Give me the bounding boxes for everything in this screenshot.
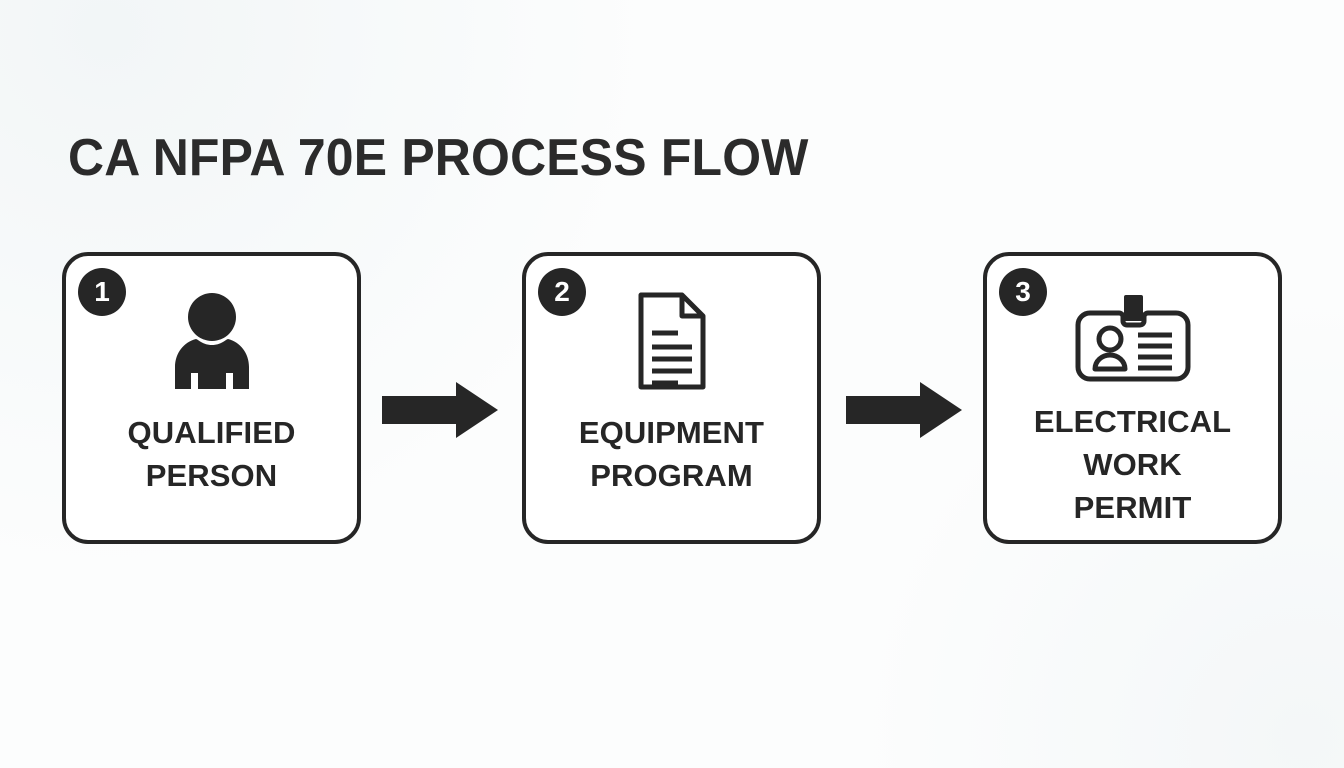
card-label-1: QUALIFIED PERSON [76, 411, 347, 497]
card-icon-slot-1 [66, 286, 357, 396]
card-icon-slot-2 [526, 286, 817, 396]
id-badge-icon [1072, 291, 1194, 391]
document-icon [634, 291, 710, 391]
arrow-right-icon-2 [846, 382, 962, 438]
card-icon-slot-3 [987, 286, 1278, 396]
person-icon [166, 289, 258, 393]
process-step-card-1[interactable]: 1 QUALIFIED PERSON [62, 252, 361, 544]
process-step-card-2[interactable]: 2 EQUIPMENT PROGRAM [522, 252, 821, 544]
arrow-right-icon-1 [382, 382, 498, 438]
card-label-2: EQUIPMENT PROGRAM [536, 411, 807, 497]
card-label-3: ELECTRICAL WORK PERMIT [997, 400, 1268, 529]
diagram-canvas: CA NFPA 70E PROCESS FLOW 1 QUALIFIED PER… [0, 0, 1344, 768]
page-title: CA NFPA 70E PROCESS FLOW [68, 128, 809, 188]
process-step-card-3[interactable]: 3 ELECTRICAL WORK PERMIT [983, 252, 1282, 544]
